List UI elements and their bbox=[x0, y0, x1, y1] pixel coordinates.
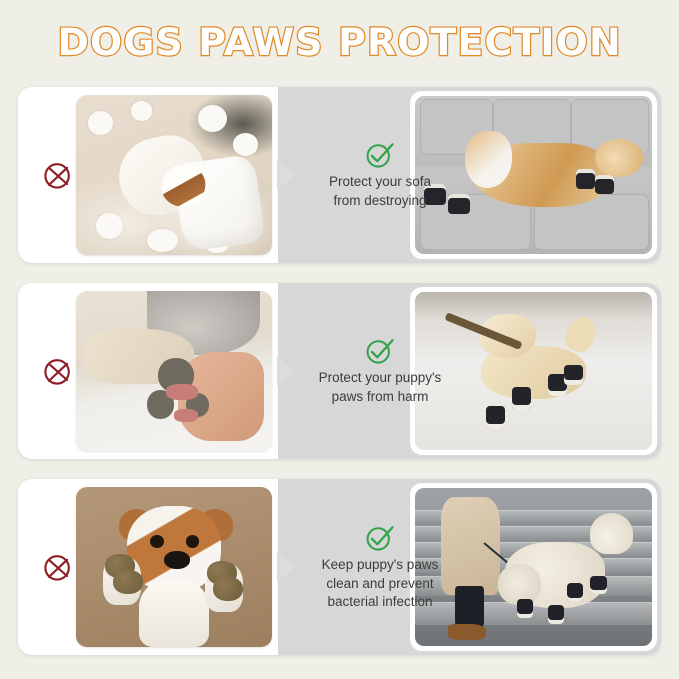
benefit-text: Keep puppy's paws clean and prevent bact… bbox=[322, 556, 439, 612]
check-circle-icon bbox=[364, 522, 396, 554]
benefit-block: Keep puppy's paws clean and prevent bact… bbox=[305, 479, 455, 655]
check-circle-icon bbox=[364, 139, 396, 171]
benefit-block: Protect your sofa from destroying bbox=[305, 87, 455, 263]
infographic-page: DOGS PAWS PROTECTION bbox=[0, 0, 679, 679]
x-circle-icon bbox=[40, 353, 76, 389]
panel-sofa: Protect your sofa from destroying bbox=[18, 87, 661, 263]
benefit-text: Protect your puppy's paws from harm bbox=[319, 369, 442, 406]
muddy-paws-photo bbox=[76, 487, 272, 647]
cracked-paw-photo bbox=[76, 291, 272, 451]
page-title: DOGS PAWS PROTECTION bbox=[0, 16, 679, 68]
check-circle-icon bbox=[364, 335, 396, 367]
panel-harm: Protect your puppy's paws from harm bbox=[18, 283, 661, 459]
page-title-text: DOGS PAWS PROTECTION bbox=[57, 21, 621, 64]
panel-clean: Keep puppy's paws clean and prevent bact… bbox=[18, 479, 661, 655]
dog-destroying-pillow-photo bbox=[76, 95, 272, 255]
chevron-right-icon bbox=[273, 354, 299, 388]
benefit-text: Protect your sofa from destroying bbox=[329, 173, 431, 210]
benefit-block: Protect your puppy's paws from harm bbox=[305, 283, 455, 459]
x-circle-icon bbox=[40, 157, 76, 193]
chevron-right-icon bbox=[273, 550, 299, 584]
chevron-right-icon bbox=[273, 158, 299, 192]
x-circle-icon bbox=[40, 549, 76, 585]
